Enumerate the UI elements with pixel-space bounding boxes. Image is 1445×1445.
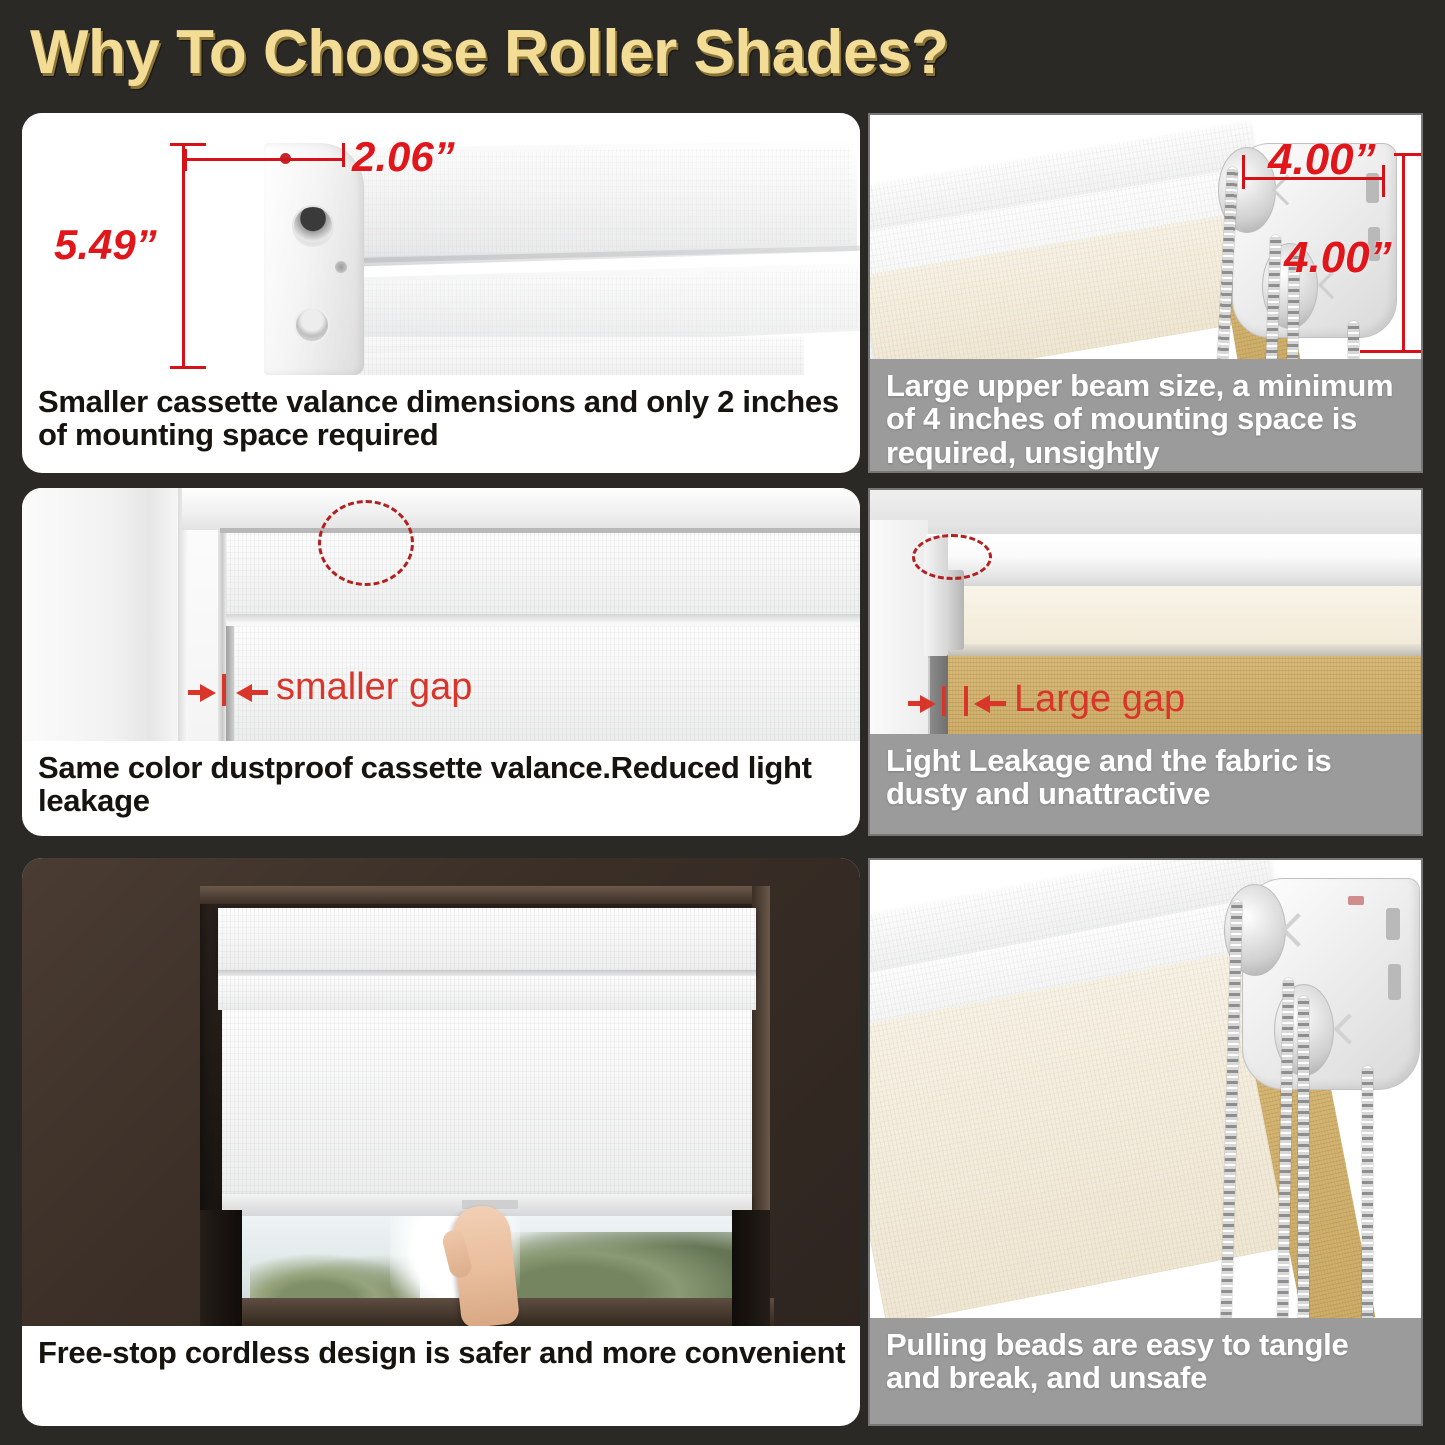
panel-3-caption-text: Same color dustproof cassette valance.Re… xyxy=(38,751,846,818)
beam-width-tick-left xyxy=(1242,155,1245,189)
height-dimension-tick-bottom xyxy=(170,366,206,369)
large-gap-label: Large gap xyxy=(1014,678,1185,721)
panel-free-stop-cordless: Free-stop cordless design is safer and m… xyxy=(22,858,860,1426)
panel-2-photo: 4.00” 4.00” xyxy=(870,115,1421,363)
cassette-valance-header xyxy=(218,908,756,976)
roller-tube xyxy=(926,534,1421,590)
beam-height-dimension-label: 4.00” xyxy=(1284,233,1392,283)
height-dimension-label: 5.49” xyxy=(54,221,157,269)
panel-smaller-cassette-valance: 5.49” 2.06” Smaller cassette valance dim… xyxy=(22,113,860,473)
bead-chain-right xyxy=(1348,321,1359,363)
beam-height-dimension-line xyxy=(1402,153,1405,353)
wall-top xyxy=(870,490,1421,528)
gap-arrow-left-stem xyxy=(188,690,204,695)
bead-chain-mid-b xyxy=(1298,996,1309,1322)
panel-light-leakage: Large gap Light Leakage and the fabric i… xyxy=(868,488,1423,836)
panel-6-caption-text: Pulling beads are easy to tangle and bre… xyxy=(886,1328,1407,1395)
panel-1-photo: 5.49” 2.06” xyxy=(22,113,860,375)
bracket-roller-socket xyxy=(292,205,334,247)
title-bar: Why To Choose Roller Shades? xyxy=(0,0,1445,108)
panel-large-upper-beam: 4.00” 4.00” Large upper beam size, a min… xyxy=(868,113,1423,473)
panel-6-caption-bar: Pulling beads are easy to tangle and bre… xyxy=(870,1318,1421,1424)
bracket-screw xyxy=(335,261,347,273)
panel-4-photo: Large gap xyxy=(870,490,1421,738)
gap-arrow-right-stem xyxy=(988,701,1006,706)
beam-height-tick-top xyxy=(1394,153,1421,156)
height-dimension-line xyxy=(182,143,185,369)
highlight-circle xyxy=(318,500,414,586)
width-dimension-line xyxy=(184,158,344,161)
width-dimension-label: 2.06” xyxy=(352,133,455,181)
bracket-red-mark xyxy=(1348,896,1364,905)
bracket-slot-top xyxy=(1386,908,1400,940)
panel-5-photo xyxy=(22,858,860,1326)
valance-lower-lip xyxy=(218,976,756,1010)
gap-indicator-bar-left xyxy=(942,686,946,716)
panel-4-caption-bar: Light Leakage and the fabric is dusty an… xyxy=(870,734,1421,834)
panel-1-caption-bar: Smaller cassette valance dimensions and … xyxy=(22,375,860,473)
valance-divider xyxy=(226,614,860,622)
window-recess-top-trim xyxy=(200,886,770,904)
gap-indicator-bar xyxy=(222,674,226,706)
panel-pulling-beads-unsafe: Pulling beads are easy to tangle and bre… xyxy=(868,858,1423,1426)
window-frame-left xyxy=(22,488,182,741)
bracket-slot-bottom xyxy=(1388,964,1401,1000)
window-jamb-right xyxy=(732,1210,770,1326)
page-title: Why To Choose Roller Shades? xyxy=(30,17,948,88)
panel-6-photo xyxy=(870,860,1421,1322)
panel-3-caption-bar: Same color dustproof cassette valance.Re… xyxy=(22,741,860,836)
beam-width-tick-right xyxy=(1382,165,1385,197)
width-dimension-tick-right xyxy=(342,143,345,167)
gap-arrow-left-stem xyxy=(908,701,924,706)
smaller-gap-label: smaller gap xyxy=(276,666,472,709)
panel-3-photo: smaller gap xyxy=(22,488,860,741)
panel-4-caption-text: Light Leakage and the fabric is dusty an… xyxy=(886,744,1407,811)
gap-indicator-bar-right xyxy=(964,686,968,716)
gap-arrow-right-stem xyxy=(250,690,268,695)
window-frame-top xyxy=(182,488,860,530)
beam-height-tick-bottom xyxy=(1360,350,1421,353)
panel-5-caption-bar: Free-stop cordless design is safer and m… xyxy=(22,1326,860,1426)
panel-2-caption-bar: Large upper beam size, a minimum of 4 in… xyxy=(870,359,1421,471)
panel-2-caption-text: Large upper beam size, a minimum of 4 in… xyxy=(886,369,1407,469)
height-dimension-tick-top xyxy=(170,143,206,146)
beam-width-dimension-label: 4.00” xyxy=(1268,135,1376,185)
shade-left-edge xyxy=(226,626,234,741)
width-dimension-tick-left xyxy=(184,149,187,171)
highlight-circle xyxy=(912,534,992,580)
panel-1-caption-text: Smaller cassette valance dimensions and … xyxy=(38,385,846,452)
shade-fabric xyxy=(222,1010,752,1198)
bracket-clip xyxy=(946,570,964,650)
panel-dustproof-cassette-valance: smaller gap Same color dustproof cassett… xyxy=(22,488,860,836)
cream-fabric-band xyxy=(928,586,1421,648)
panel-5-caption-text: Free-stop cordless design is safer and m… xyxy=(38,1336,845,1369)
bead-chain-right xyxy=(1362,1066,1373,1322)
bracket-lower-socket xyxy=(294,307,330,343)
window-jamb-left xyxy=(200,1210,242,1326)
